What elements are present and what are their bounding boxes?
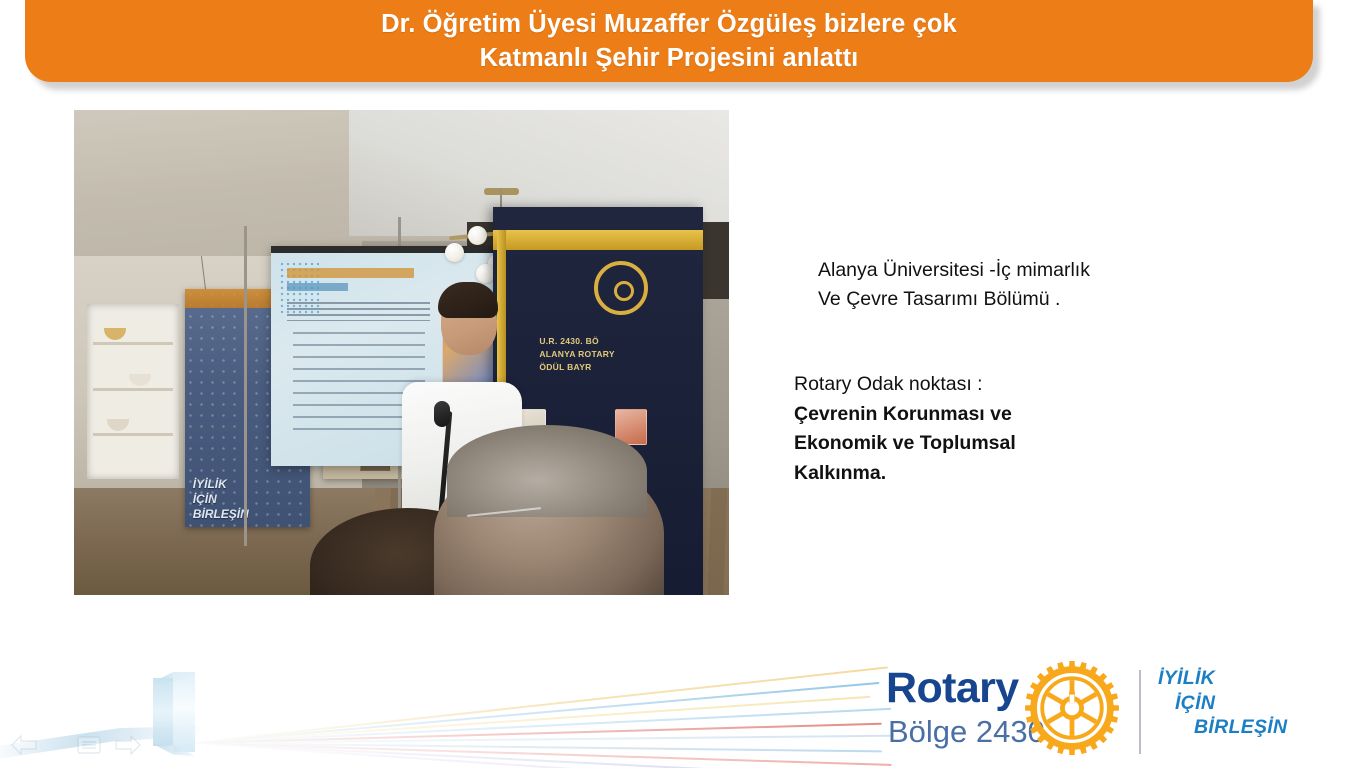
photo-banner-right-text: U.R. 2430. BÖ ALANYA ROTARY ÖDÜL BAYR xyxy=(539,335,698,373)
photo-shelf-niche xyxy=(87,304,179,479)
photo-scene: İYİLİK İÇİN BİRLEŞİN xyxy=(74,110,729,595)
photo-slide-title xyxy=(287,268,414,279)
rotary-district-label: Bölge 2430 xyxy=(888,714,1045,750)
rotary-focus-label: Rotary Odak noktası : xyxy=(794,370,1234,400)
presentation-slide: Dr. Öğretim Üyesi Muzaffer Özgüleş bizle… xyxy=(0,0,1366,768)
page-title: Dr. Öğretim Üyesi Muzaffer Özgüleş bizle… xyxy=(381,7,957,75)
photo-banner-left-text: İYİLİK İÇİN BİRLEŞİN xyxy=(193,477,305,522)
photo-slide-subtitle xyxy=(287,283,348,292)
prism-decoration xyxy=(0,630,900,768)
next-slide-icon[interactable] xyxy=(114,734,142,756)
photo-microphone xyxy=(434,401,450,427)
title-banner: Dr. Öğretim Üyesi Muzaffer Özgüleş bizle… xyxy=(25,0,1313,82)
slideshow-nav-controls xyxy=(10,730,140,760)
rotary-focus-text: Rotary Odak noktası : Çevrenin Korunması… xyxy=(794,370,1234,489)
photo-banner-gold-top xyxy=(493,230,703,249)
rotary-tagline: İYİLİK İÇİN BİRLEŞİN xyxy=(1158,666,1308,740)
department-text: Alanya Üniversitesi -İç mimarlık Ve Çevr… xyxy=(818,256,1248,315)
tagline-line-3: BİRLEŞİN xyxy=(1194,715,1308,740)
photo-rotary-wheel-icon xyxy=(594,261,648,315)
logo-divider xyxy=(1139,670,1141,754)
rotary-wordmark: Rotary xyxy=(886,664,1019,713)
tagline-line-1: İYİLİK xyxy=(1158,666,1308,691)
prism-right-face xyxy=(173,672,195,752)
rotary-focus-value: Çevrenin Korunması ve Ekonomik ve Toplum… xyxy=(794,400,1234,489)
presentation-photo: İYİLİK İÇİN BİRLEŞİN xyxy=(74,110,729,595)
slideshow-menu-icon[interactable] xyxy=(76,734,102,756)
rotary-gear-wheel-icon xyxy=(1024,660,1120,756)
previous-slide-icon[interactable] xyxy=(10,734,38,756)
photo-banner-pole-left xyxy=(244,226,247,546)
tagline-line-2: İÇİN xyxy=(1175,691,1308,716)
rotary-logo: Rotary Bölge 2430 İ xyxy=(886,662,1286,766)
photo-audience-hair xyxy=(447,425,647,517)
prism-shape xyxy=(153,672,195,752)
photo-slide-paragraph xyxy=(287,302,430,321)
photo-speaker-hair xyxy=(438,282,498,318)
prism-left-face xyxy=(153,678,173,746)
